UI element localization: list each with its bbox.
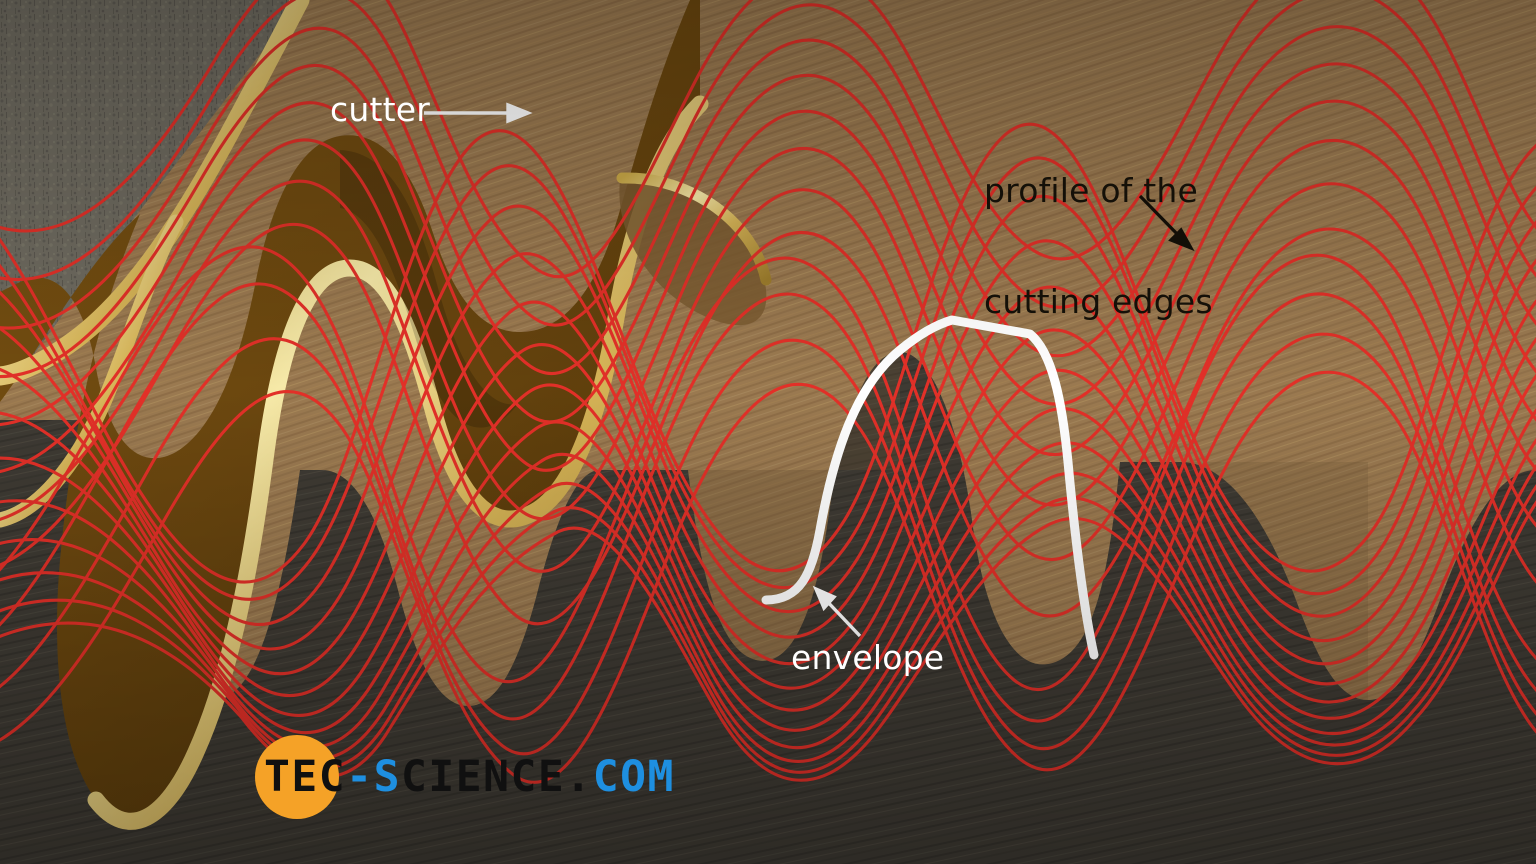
- figure-canvas: cutter profile of the cutting edges enve…: [0, 0, 1536, 864]
- logo-part-com: COM: [593, 752, 675, 802]
- tec-science-logo[interactable]: TEC-SCIENCE.COM: [255, 735, 675, 819]
- label-cutter: cutter: [330, 92, 430, 129]
- logo-part-dot: .: [565, 752, 592, 802]
- logo-wordmark: TEC-SCIENCE.COM: [264, 752, 675, 802]
- logo-part-tec: TEC: [264, 752, 346, 802]
- label-profile-of-cutting-edges: profile of the cutting edges: [984, 99, 1213, 395]
- logo-part-dash: -: [346, 752, 373, 802]
- logo-part-cience: CIENCE: [401, 752, 565, 802]
- vignette: [0, 0, 1536, 864]
- logo-part-s: S: [374, 752, 401, 802]
- label-profile-line-1: profile of the: [984, 173, 1213, 210]
- material-layer: [0, 0, 1536, 864]
- label-profile-line-2: cutting edges: [984, 284, 1213, 321]
- label-envelope: envelope: [791, 640, 944, 677]
